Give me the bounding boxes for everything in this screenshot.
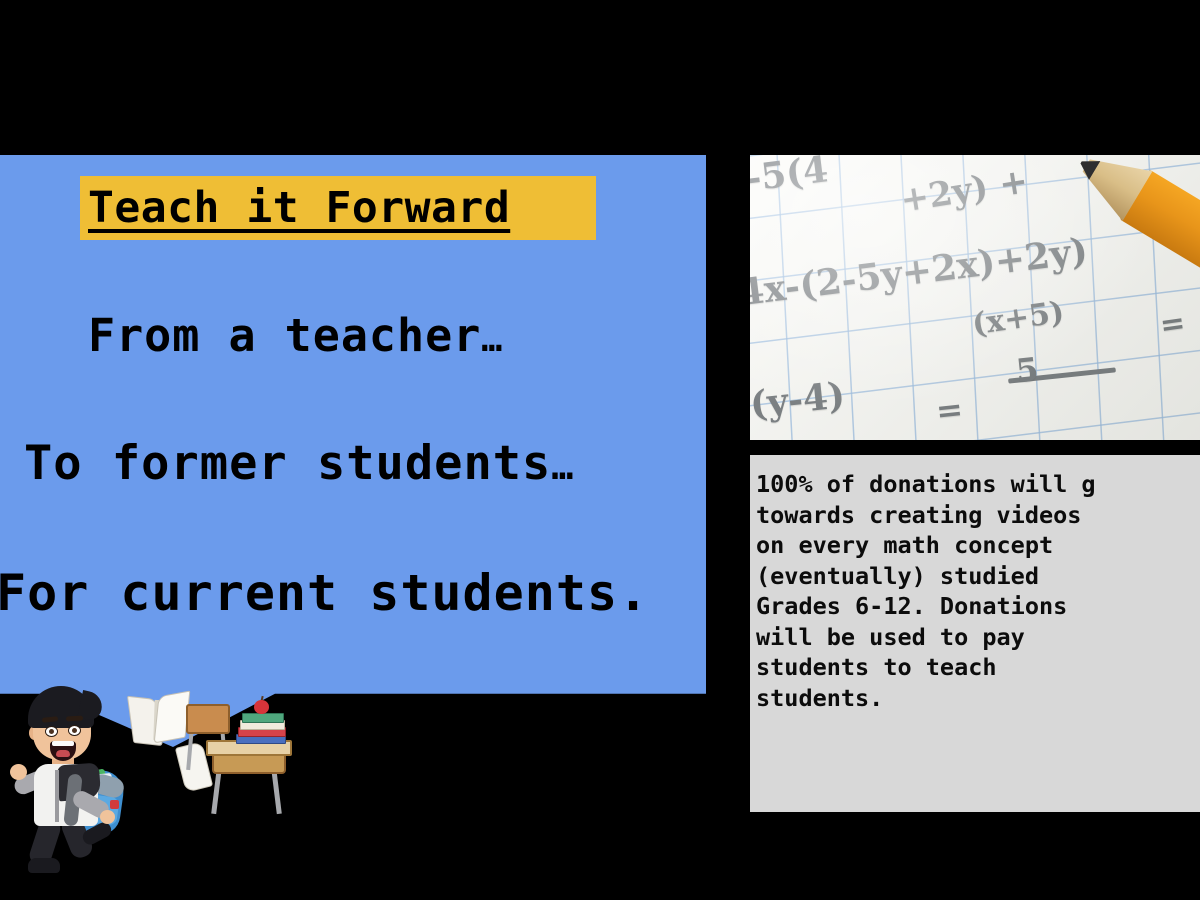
backpack-tag-icon bbox=[110, 800, 119, 809]
avatar-left-eye bbox=[45, 726, 58, 737]
tagline-3-text: For current students. bbox=[0, 564, 649, 622]
avatar-fist bbox=[10, 764, 27, 780]
avatar-right-eye bbox=[68, 725, 81, 736]
math-photo: -5(4 +2y) + 4x-(2-5y+2x)+2y) (x+5) 5 (y-… bbox=[750, 155, 1200, 440]
open-book-icon bbox=[130, 692, 188, 744]
desk-left-leg bbox=[211, 768, 222, 814]
tagline-for-current-students: For current students. bbox=[0, 568, 649, 618]
donations-info-text: 100% of donations will g towards creatin… bbox=[756, 469, 1200, 713]
avatar-right-eyebrow bbox=[66, 716, 83, 722]
page-title: Teach it Forward bbox=[88, 187, 510, 230]
donations-info-box: 100% of donations will g towards creatin… bbox=[750, 455, 1200, 812]
tagline-1-ellipsis: … bbox=[481, 319, 503, 360]
slide-canvas: Teach it Forward From a teacher… To form… bbox=[0, 0, 1200, 900]
red-apple-icon bbox=[254, 700, 269, 714]
book-right-page bbox=[154, 691, 191, 744]
avatar-back-shoe bbox=[28, 858, 60, 873]
title-highlight-box: Teach it Forward bbox=[80, 176, 596, 240]
school-chair-icon bbox=[186, 704, 230, 734]
cartoon-scene bbox=[0, 678, 290, 878]
avatar-teeth bbox=[52, 741, 74, 746]
avatar-tongue bbox=[56, 750, 70, 757]
tagline-to-former-students: To former students… bbox=[24, 440, 574, 487]
tagline-1-text: From a teacher bbox=[88, 309, 481, 362]
avatar-hand bbox=[100, 810, 115, 824]
tagline-2-ellipsis: … bbox=[551, 445, 574, 488]
tagline-2-text: To former students bbox=[24, 436, 551, 491]
tagline-from-a-teacher: From a teacher… bbox=[88, 313, 503, 358]
stacked-book-4 bbox=[242, 713, 284, 723]
avatar-jacket-zipper bbox=[55, 770, 59, 822]
desk-right-leg bbox=[271, 768, 282, 814]
